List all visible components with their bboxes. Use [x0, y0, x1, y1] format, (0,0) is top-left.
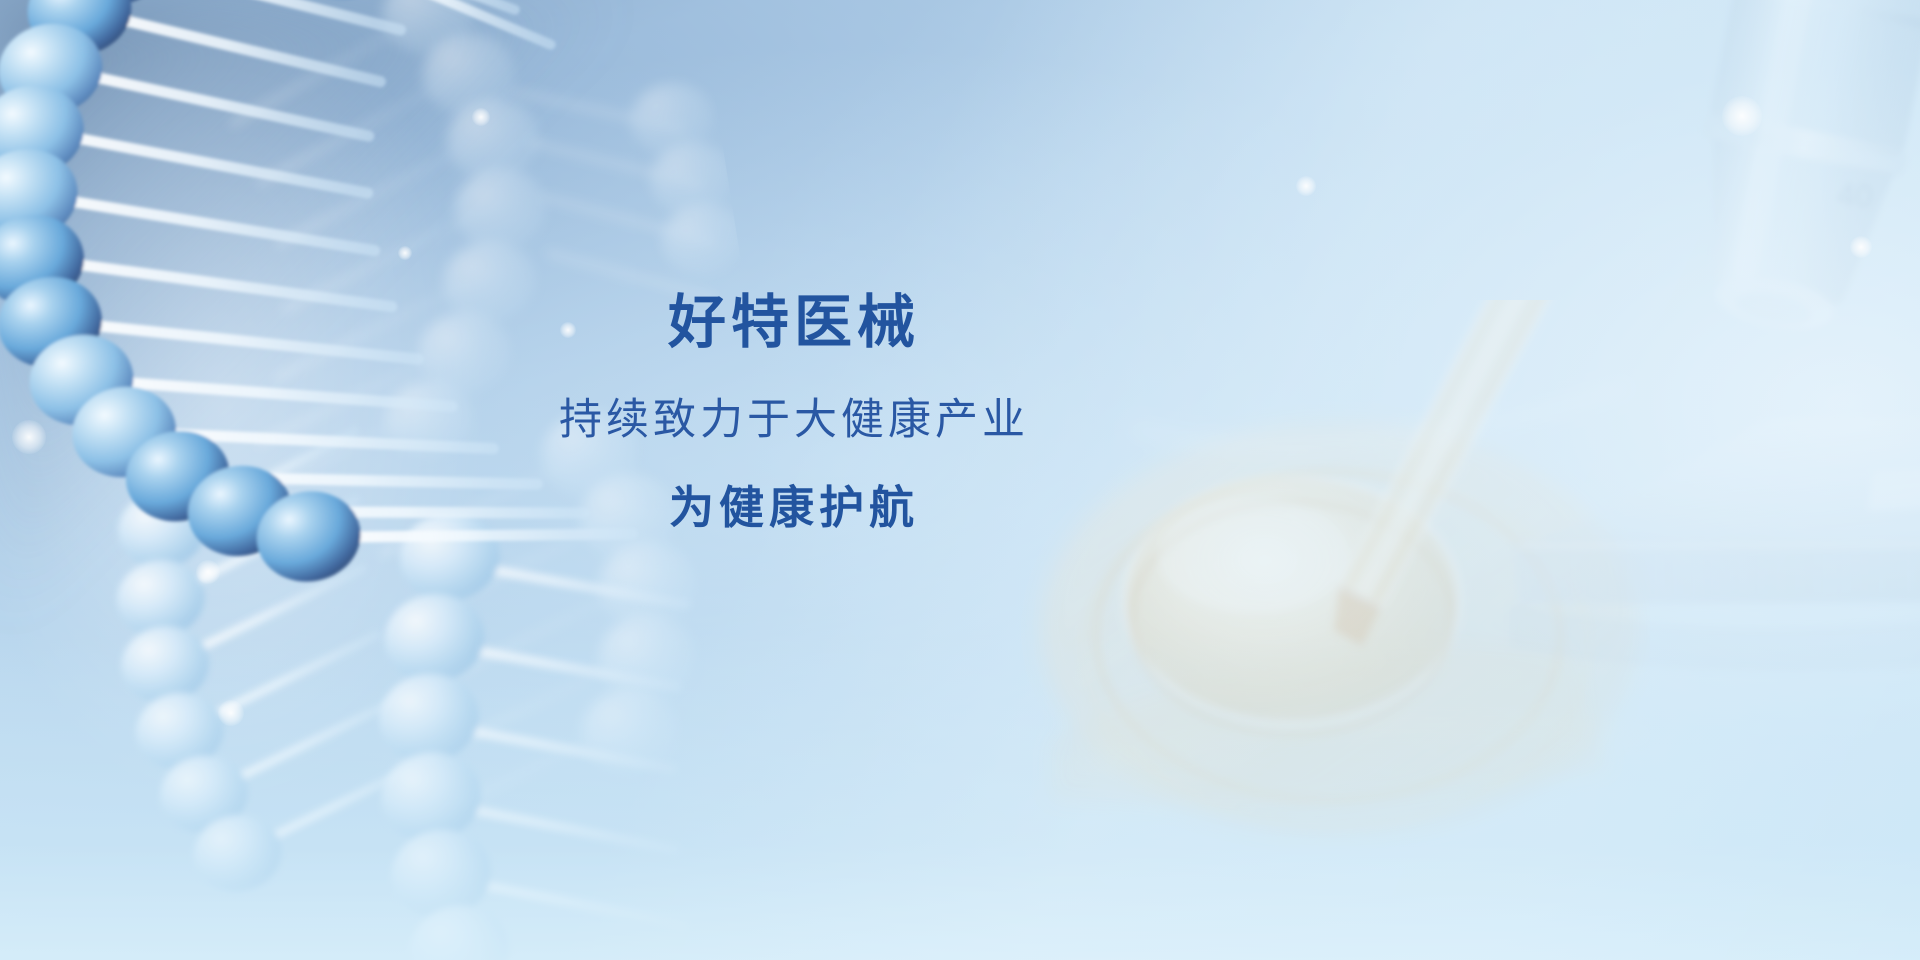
- microscope-objective-lens-icon: 40: [1608, 0, 1920, 382]
- tagline-secondary: 为健康护航: [0, 483, 1588, 533]
- bokeh-speck: [196, 560, 220, 584]
- headline-block: 好特医械 持续致力于大健康产业 为健康护航: [0, 292, 1588, 532]
- bokeh-speck: [218, 700, 244, 726]
- dna-front-strand-upper: [175, 0, 551, 98]
- tagline-primary: 持续致力于大健康产业: [0, 397, 1588, 444]
- bokeh-speck: [1722, 96, 1762, 136]
- dna-lower-strand: [336, 478, 741, 960]
- objective-magnification-label: 40: [1836, 176, 1873, 214]
- hero-banner: 40: [0, 0, 1920, 960]
- bokeh-speck: [1850, 236, 1872, 258]
- bokeh-speck: [472, 108, 490, 126]
- dna-far-fan: [512, 59, 754, 325]
- company-title: 好特医械: [0, 292, 1588, 353]
- bokeh-speck: [1296, 176, 1316, 196]
- bokeh-speck: [398, 246, 412, 260]
